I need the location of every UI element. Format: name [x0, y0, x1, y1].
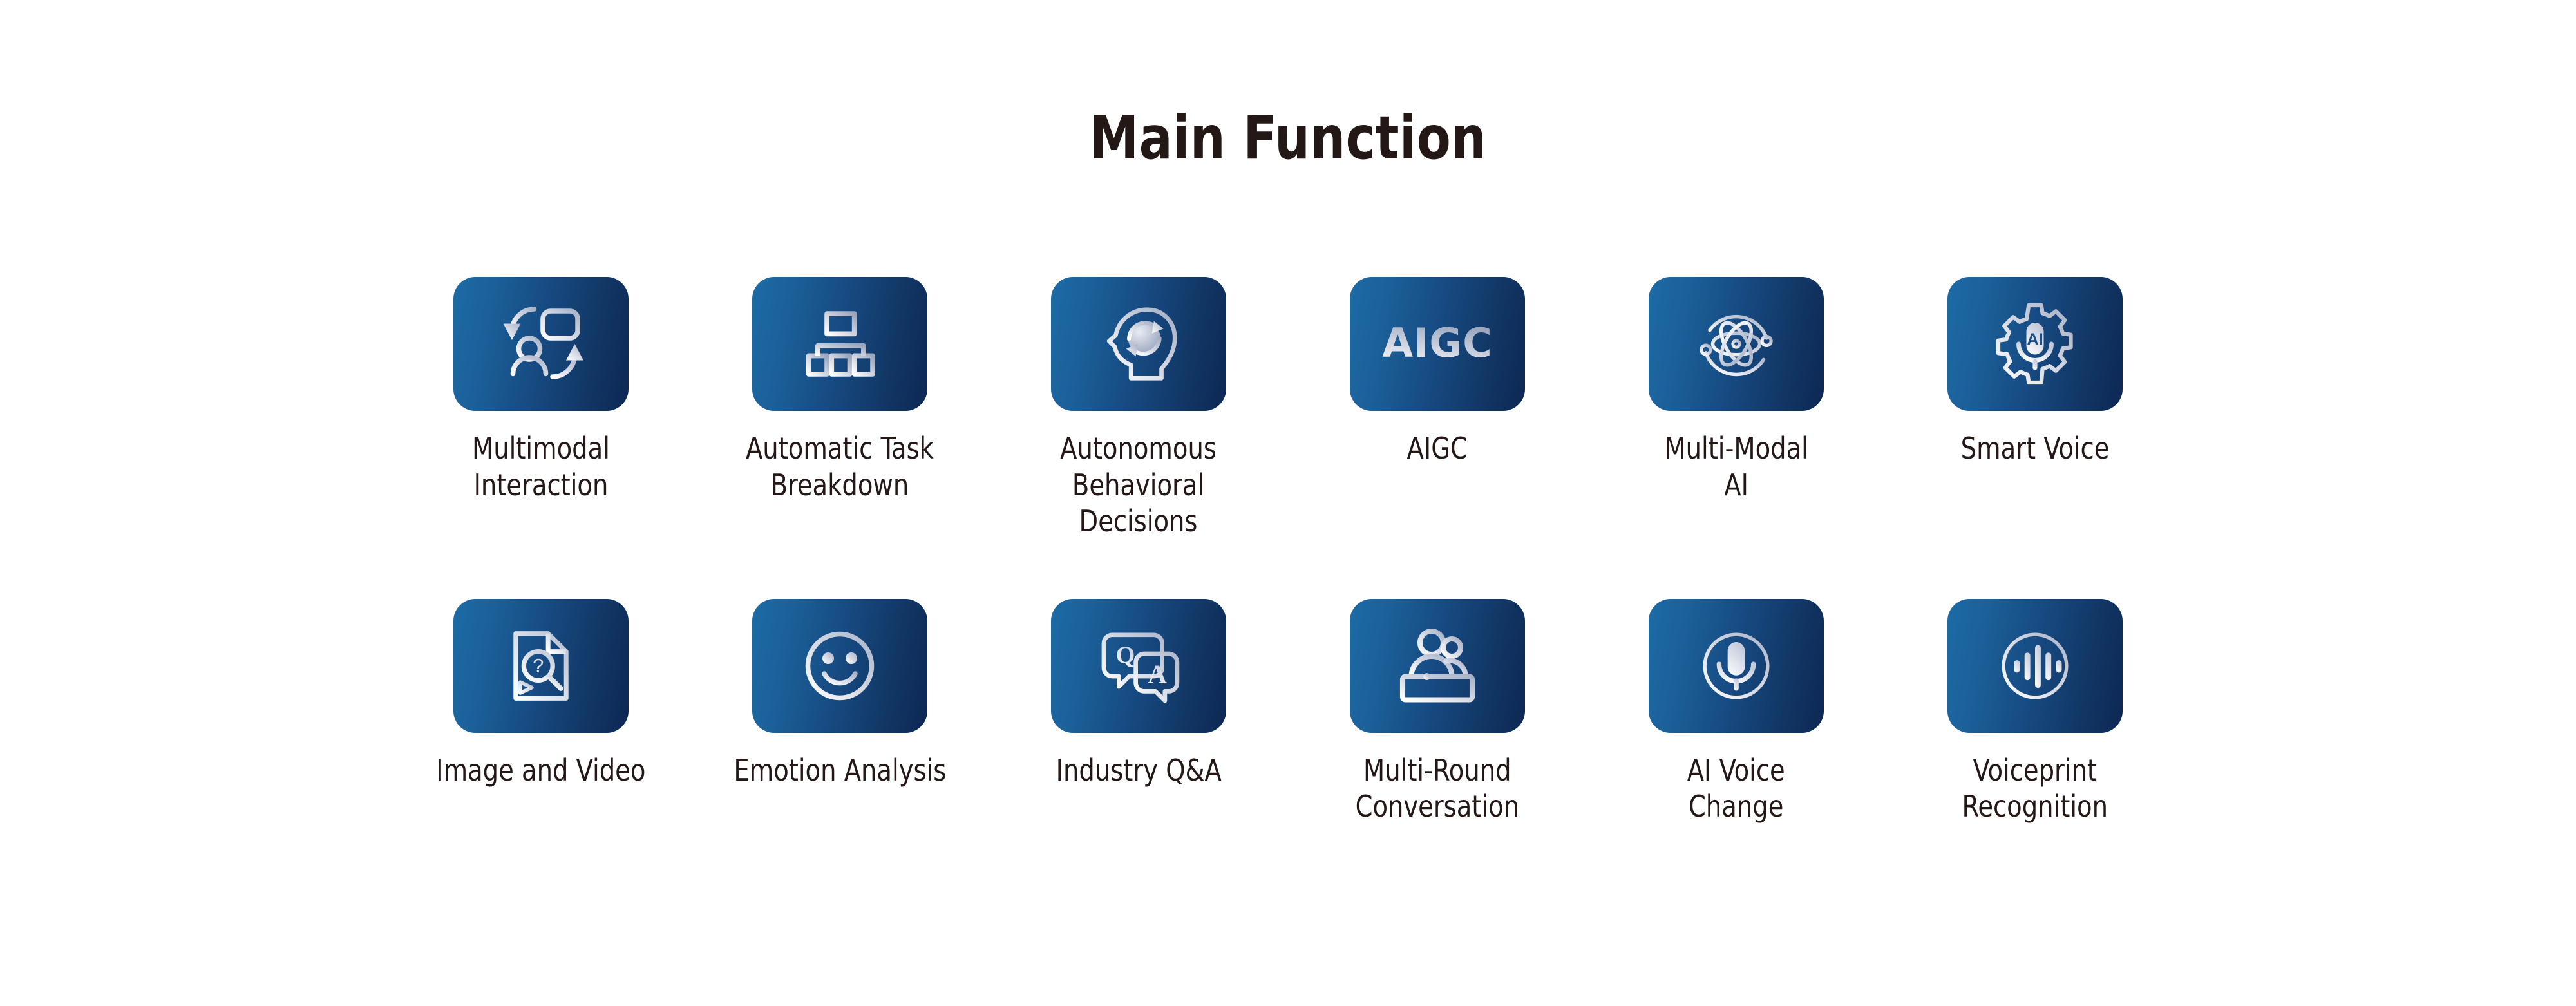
- feature-card-multi-modal-ai[interactable]: Multi-Modal AI: [1595, 277, 1878, 503]
- feature-card-aigc[interactable]: AIGC AIGC: [1296, 277, 1579, 467]
- feature-card-multi-round-conversation[interactable]: Multi-Round Conversation: [1296, 599, 1579, 825]
- feature-card-voiceprint-recognition[interactable]: Voiceprint Recognition: [1893, 599, 2177, 825]
- feature-card-automatic-task-breakdown[interactable]: Automatic Task Breakdown: [698, 277, 981, 503]
- document-search-play-icon: ?: [496, 621, 586, 711]
- feature-row-2: ? Image and Video: [399, 599, 2177, 825]
- feature-tile[interactable]: [1051, 277, 1226, 411]
- qa-speech-bubbles-icon: Q A: [1092, 619, 1186, 713]
- multimodal-interaction-icon: [493, 296, 589, 392]
- feature-card-autonomous-behavioral-decisions[interactable]: Autonomous Behavioral Decisions: [997, 277, 1280, 540]
- aigc-icon-label: AIGC: [1382, 319, 1492, 366]
- feature-tile[interactable]: [1649, 277, 1824, 411]
- feature-label: AIGC: [1407, 430, 1468, 467]
- main-function-page: Main Function: [0, 0, 2576, 1006]
- two-people-desk-icon: [1389, 618, 1486, 714]
- feature-card-emotion-analysis[interactable]: Emotion Analysis: [698, 599, 981, 789]
- feature-tile[interactable]: [1947, 599, 2123, 733]
- feature-tile[interactable]: [1649, 599, 1824, 733]
- feature-label: Industry Q&A: [1056, 752, 1221, 789]
- feature-label: AI Voice Change: [1687, 752, 1785, 825]
- feature-tile[interactable]: [453, 277, 629, 411]
- aigc-text-icon: AIGC: [1376, 312, 1499, 376]
- task-hierarchy-icon: [794, 298, 885, 390]
- feature-card-industry-qa[interactable]: Q A Industry Q&A: [997, 599, 1280, 789]
- feature-grid: Multimodal Interaction: [399, 277, 2177, 825]
- feature-row-1: Multimodal Interaction: [399, 277, 2177, 540]
- feature-card-smart-voice[interactable]: AI Smart Voice: [1893, 277, 2177, 467]
- feature-label: Autonomous Behavioral Decisions: [1061, 430, 1217, 540]
- gear-ai-microphone-icon: AI: [1987, 296, 2083, 392]
- waveform-circle-icon: [1987, 618, 2083, 714]
- feature-tile[interactable]: Q A: [1051, 599, 1226, 733]
- feature-label: Emotion Analysis: [734, 752, 946, 789]
- feature-label: Smart Voice: [1961, 430, 2110, 467]
- feature-tile[interactable]: AIGC: [1350, 277, 1525, 411]
- feature-label: Automatic Task Breakdown: [746, 430, 934, 503]
- feature-tile[interactable]: [752, 599, 927, 733]
- feature-label: Voiceprint Recognition: [1962, 752, 2108, 825]
- feature-label: Multimodal Interaction: [472, 430, 610, 503]
- feature-card-ai-voice-change[interactable]: AI Voice Change: [1595, 599, 1878, 825]
- feature-label: Image and Video: [436, 752, 645, 789]
- feature-card-image-and-video[interactable]: ? Image and Video: [399, 599, 683, 789]
- smiley-face-icon: [791, 618, 888, 714]
- feature-tile[interactable]: ?: [453, 599, 629, 733]
- qa-q-label: Q: [1116, 641, 1135, 669]
- svg-text:?: ?: [533, 654, 544, 677]
- atom-orbit-icon: [1687, 295, 1785, 393]
- microphone-circle-icon: [1689, 618, 1784, 714]
- feature-card-multimodal-interaction[interactable]: Multimodal Interaction: [399, 277, 683, 503]
- head-refresh-icon: [1091, 296, 1186, 392]
- page-title: Main Function: [103, 108, 2473, 168]
- feature-label: Multi-Round Conversation: [1356, 752, 1519, 825]
- feature-tile[interactable]: AI: [1947, 277, 2123, 411]
- qa-a-label: A: [1148, 660, 1167, 688]
- feature-tile[interactable]: [752, 277, 927, 411]
- feature-tile[interactable]: [1350, 599, 1525, 733]
- feature-label: Multi-Modal AI: [1664, 430, 1808, 503]
- gear-ai-label: AI: [2027, 331, 2043, 349]
